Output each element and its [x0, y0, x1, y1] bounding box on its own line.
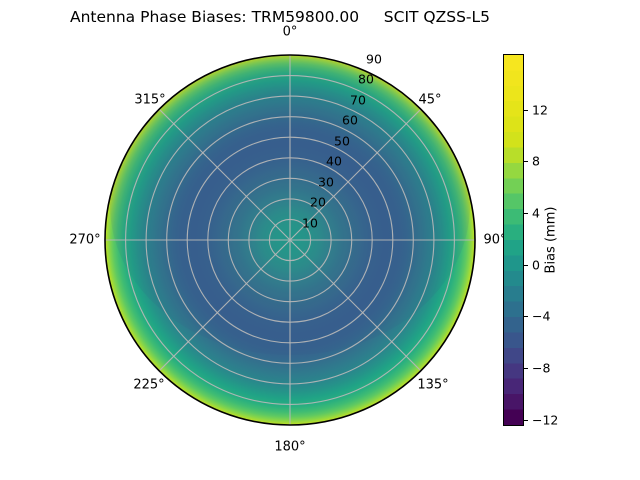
theta-tick-180: 180°	[274, 440, 305, 455]
colorbar-ticklabel-12: 12	[532, 102, 548, 117]
theta-tick-45: 45°	[418, 93, 441, 108]
colorbar-axis-label: Bias (mm)	[544, 207, 559, 274]
theta-tick-225: 225°	[133, 378, 164, 393]
colorbar-tick-12	[524, 110, 528, 111]
colorbar-ticklabel-0: 0	[532, 257, 540, 272]
colorbar-ticklabel-m8: −8	[532, 361, 550, 376]
colorbar-tick-m12	[524, 420, 528, 421]
r-tick-50: 50	[334, 134, 350, 149]
colorbar-gradient	[503, 54, 524, 426]
r-tick-10: 10	[302, 216, 318, 231]
page-title: Antenna Phase Biases: TRM59800.00 SCIT Q…	[0, 8, 560, 26]
colorbar-tick-8	[524, 161, 528, 162]
colorbar-ticklabel-m4: −4	[532, 309, 550, 324]
r-tick-40: 40	[326, 154, 342, 169]
r-tick-20: 20	[310, 195, 326, 210]
colorbar-tick-0	[524, 265, 528, 266]
r-tick-70: 70	[350, 93, 366, 108]
figure-canvas: Antenna Phase Biases: TRM59800.00 SCIT Q…	[0, 0, 640, 480]
theta-tick-270: 270°	[69, 233, 100, 248]
colorbar-ticklabel-8: 8	[532, 154, 540, 169]
colorbar-tick-m8	[524, 368, 528, 369]
colorbar-tick-4	[524, 213, 528, 214]
colorbar: 12 8 4 0 −4 −8 −12	[503, 54, 524, 426]
theta-tick-135: 135°	[417, 378, 448, 393]
r-tick-30: 30	[318, 175, 334, 190]
polar-plot-area: 0° 45° 90° 135° 180° 225° 270° 315° 10 2…	[105, 55, 475, 425]
theta-tick-0: 0°	[283, 25, 298, 40]
polar-heatmap	[105, 55, 475, 425]
colorbar-tick-m4	[524, 316, 528, 317]
theta-tick-315: 315°	[134, 93, 165, 108]
colorbar-ticklabel-4: 4	[532, 205, 540, 220]
r-tick-80: 80	[358, 72, 374, 87]
r-tick-60: 60	[342, 113, 358, 128]
polar-angular-gridlines	[105, 55, 475, 425]
colorbar-ticklabel-m12: −12	[532, 412, 558, 427]
r-tick-90: 90	[366, 52, 382, 67]
